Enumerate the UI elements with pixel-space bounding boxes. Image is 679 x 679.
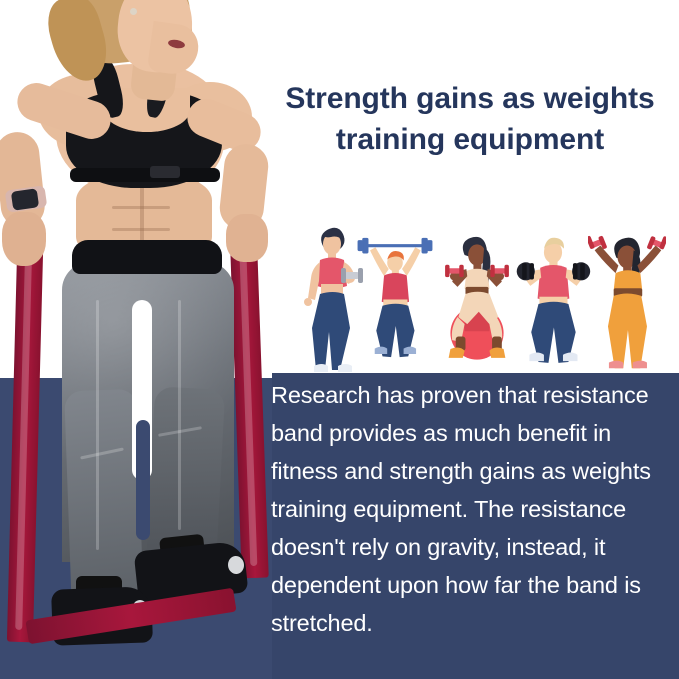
bra-underband [70,168,220,182]
earring [130,8,137,15]
description-paragraph: Research has proven that resistance band… [271,376,671,642]
hand-right-gripping-band [226,214,268,262]
illustration-man-overhead-barbell [356,214,434,374]
fitness-illustration-strip [286,214,676,374]
illustration-man-shoulder-press [514,214,592,374]
page-title: Strength gains as weights training equip… [266,78,674,161]
bra-clip [150,166,180,178]
product-photo [0,0,272,679]
illustration-woman-on-exercise-ball [438,214,516,374]
leg-gap-lower [136,420,150,540]
smartwatch-face [11,188,39,210]
product-marketing-image: Strength gains as weights training equip… [0,0,679,679]
hand-left-gripping-band [2,212,46,266]
leggings-waistband [72,240,222,274]
heading-line-1: Strength gains as weights [266,78,674,119]
heading-line-2: training equipment [266,119,674,160]
illustration-woman-arms-raised [588,214,666,374]
description-text: Research has proven that resistance band… [271,376,671,642]
